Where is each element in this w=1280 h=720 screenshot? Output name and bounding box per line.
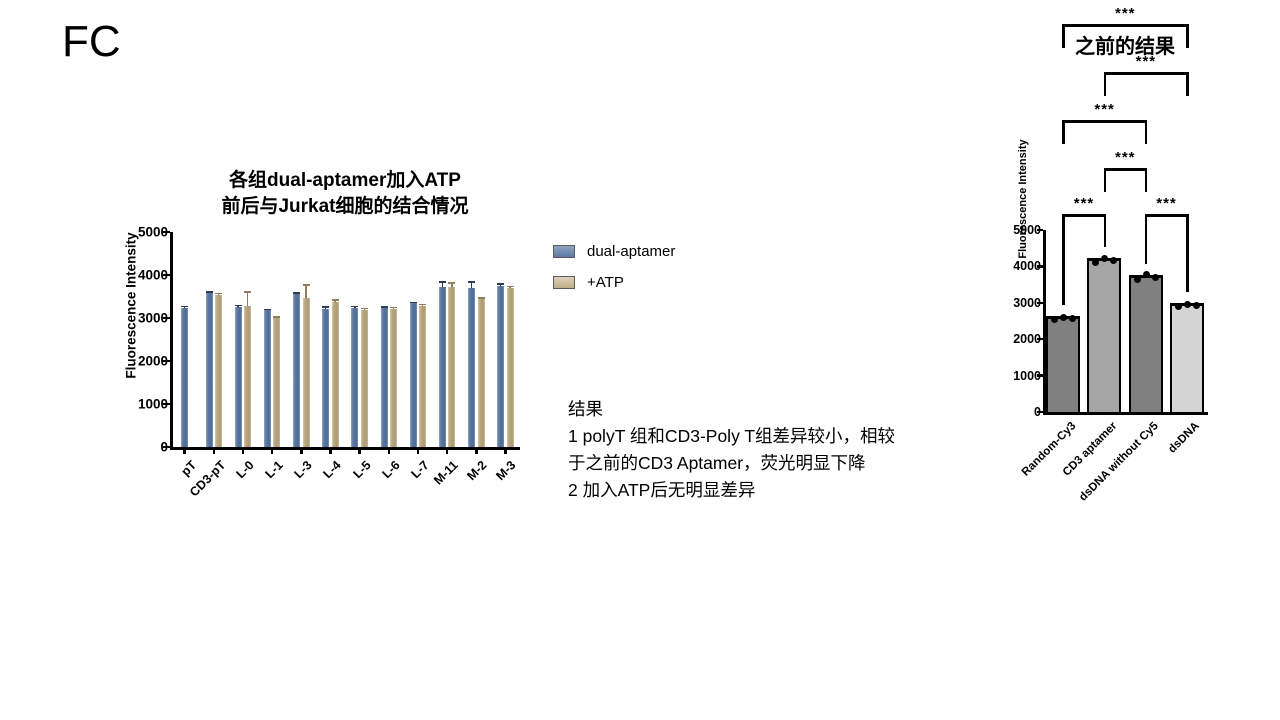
left-chart-bar [381, 308, 388, 447]
left-chart-bar [244, 306, 251, 447]
left-bar-chart: 各组dual-aptamer加入ATP 前后与Jurkat细胞的结合情况 Flu… [75, 160, 545, 520]
left-chart-bar [361, 310, 368, 447]
left-chart-bar [478, 299, 485, 447]
right-chart-bar [1046, 316, 1080, 412]
significance-bracket-leg [1104, 214, 1107, 247]
significance-bracket [1146, 214, 1187, 217]
left-chart-bar [264, 310, 271, 447]
significance-bracket-leg [1062, 24, 1065, 48]
right-chart-data-point [1175, 303, 1182, 310]
left-chart-bar [390, 309, 397, 447]
left-chart-error-cap [439, 281, 446, 283]
significance-label: *** [1094, 101, 1115, 118]
left-chart-x-tick [475, 447, 478, 454]
left-chart-x-axis [170, 447, 520, 450]
right-chart-y-axis [1043, 230, 1046, 412]
legend-label-atp: +ATP [587, 274, 624, 291]
notes-line-3: 于之前的CD3 Aptamer，荧光明显下降 [568, 450, 998, 477]
right-chart-bar [1170, 303, 1204, 412]
left-chart-legend: dual-aptamer +ATP [553, 243, 675, 305]
significance-bracket-leg [1062, 120, 1065, 144]
right-chart-plot-area: 010002000300040005000Random-Cy3CD3 aptam… [1043, 230, 1208, 412]
significance-label: *** [1115, 5, 1136, 22]
left-chart-error-cap [303, 284, 310, 286]
left-chart-error-cap [419, 304, 426, 306]
significance-bracket [1064, 214, 1105, 217]
left-chart-x-tick [271, 447, 274, 454]
notes-line-4: 2 加入ATP后无明显差异 [568, 477, 998, 504]
legend-item-atp: +ATP [553, 274, 675, 291]
significance-bracket-leg [1186, 72, 1189, 96]
right-chart-data-point [1143, 271, 1150, 278]
left-chart-bar [215, 295, 222, 447]
left-chart-title-line-1: 各组dual-aptamer加入ATP [170, 168, 520, 194]
left-chart-error-cap [215, 293, 222, 295]
right-chart-x-tick-label: dsDNA without Cy5 [1077, 420, 1161, 504]
right-chart-y-tick-label: 4000 [1013, 259, 1041, 273]
left-chart-error-cap [235, 305, 242, 307]
significance-bracket [1064, 120, 1147, 123]
right-chart-x-axis [1043, 412, 1208, 415]
left-chart-error-cap [497, 283, 504, 285]
right-chart-x-tick-label: dsDNA [1167, 420, 1203, 456]
right-chart-data-point [1134, 276, 1141, 283]
right-chart-data-point [1184, 301, 1191, 308]
left-chart-x-tick-label: M-3 [494, 458, 519, 483]
right-chart-y-tick-label: 3000 [1013, 296, 1041, 310]
left-chart-x-tick [213, 447, 216, 454]
right-chart-data-point [1092, 259, 1099, 266]
significance-label: *** [1156, 195, 1177, 212]
left-chart-x-tick-label: pT [178, 458, 199, 479]
left-chart-bar [332, 302, 339, 447]
right-chart-data-point [1152, 274, 1159, 281]
left-chart-x-tick [358, 447, 361, 454]
right-chart-y-tick-label: 0 [1034, 405, 1041, 419]
significance-bracket-leg [1145, 120, 1148, 144]
significance-bracket-leg [1186, 24, 1189, 48]
left-chart-error-cap [322, 306, 329, 308]
left-chart-bar [410, 303, 417, 447]
left-chart-bar [419, 306, 426, 447]
left-chart-bar [303, 298, 310, 447]
left-chart-y-axis-label: Fluorescence Intensity [124, 206, 139, 406]
left-chart-x-tick-label: L-1 [263, 458, 286, 481]
left-chart-bar [293, 294, 300, 447]
left-chart-bar [448, 287, 455, 447]
significance-label: *** [1136, 53, 1157, 70]
significance-bracket [1105, 72, 1188, 75]
right-chart-y-tick-label: 1000 [1013, 369, 1041, 383]
left-chart-error-cap [390, 307, 397, 309]
left-chart-y-tick-label: 3000 [138, 311, 168, 326]
left-chart-x-tick [388, 447, 391, 454]
left-chart-error-cap [293, 292, 300, 294]
left-chart-error-cap [410, 302, 417, 304]
left-chart-x-tick-label: L-3 [292, 458, 315, 481]
left-chart-plot-area: 010002000300040005000pTCD3-pTL-0L-1L-3L-… [170, 232, 520, 447]
left-chart-x-tick-label: L-4 [321, 458, 344, 481]
significance-bracket-leg [1104, 168, 1107, 192]
significance-bracket-leg [1145, 168, 1148, 192]
significance-bracket-leg [1186, 214, 1189, 292]
right-bar-chart: 之前的结果 Fluorescence Intensity 01000200030… [985, 18, 1265, 518]
significance-label: *** [1115, 149, 1136, 166]
right-chart-title: 之前的结果 [985, 30, 1265, 59]
left-chart-title-line-2: 前后与Jurkat细胞的结合情况 [170, 194, 520, 220]
notes-line-2: 1 polyT 组和CD3-Poly T组差异较小，相较 [568, 423, 998, 450]
right-chart-data-point [1101, 255, 1108, 262]
left-chart-x-tick [329, 447, 332, 454]
left-chart-error-cap [332, 299, 339, 301]
left-chart-error-bar [305, 284, 307, 298]
left-chart-bar [507, 288, 514, 447]
left-chart-title: 各组dual-aptamer加入ATP 前后与Jurkat细胞的结合情况 [170, 168, 520, 220]
significance-bracket [1105, 168, 1146, 171]
significance-bracket-leg [1062, 214, 1065, 305]
left-chart-x-tick [300, 447, 303, 454]
left-chart-error-cap [264, 309, 271, 311]
legend-swatch-icon-dual-aptamer [553, 245, 575, 258]
left-chart-bar [273, 318, 280, 447]
right-chart-y-tick-label: 5000 [1013, 223, 1041, 237]
left-chart-x-tick [417, 447, 420, 454]
left-chart-y-tick-label: 2000 [138, 354, 168, 369]
left-chart-bar [468, 288, 475, 447]
left-chart-error-cap [273, 316, 280, 318]
left-chart-error-cap [448, 282, 455, 284]
left-chart-error-cap [351, 306, 358, 308]
left-chart-bar [322, 309, 329, 447]
left-chart-bar [497, 286, 504, 447]
results-notes: 结果 1 polyT 组和CD3-Poly T组差异较小，相较 于之前的CD3 … [568, 396, 998, 505]
significance-bracket-leg [1104, 72, 1107, 96]
left-chart-error-cap [381, 306, 388, 308]
left-chart-y-tick-label: 1000 [138, 397, 168, 412]
left-chart-bar [351, 308, 358, 447]
right-chart-bar [1087, 258, 1121, 412]
left-chart-error-bar [247, 291, 249, 305]
left-chart-error-cap [478, 297, 485, 299]
left-chart-x-tick-label: M-2 [465, 458, 490, 483]
legend-item-dual-aptamer: dual-aptamer [553, 243, 675, 260]
significance-bracket-leg [1145, 214, 1148, 264]
left-chart-y-tick-label: 0 [160, 440, 168, 455]
left-chart-bar [206, 293, 213, 447]
left-chart-error-cap [468, 281, 475, 283]
legend-swatch-icon-atp [553, 276, 575, 289]
significance-bracket [1064, 24, 1188, 27]
right-chart-bar [1129, 275, 1163, 412]
slide-canvas: FC 各组dual-aptamer加入ATP 前后与Jurkat细胞的结合情况 … [0, 0, 1280, 720]
left-chart-x-tick-label: M-11 [431, 458, 461, 488]
page-title: FC [62, 18, 121, 66]
left-chart-x-tick [242, 447, 245, 454]
notes-line-1: 结果 [568, 396, 998, 423]
legend-label-dual-aptamer: dual-aptamer [587, 243, 675, 260]
left-chart-x-tick-label: L-6 [379, 458, 402, 481]
left-chart-y-axis [170, 232, 173, 447]
left-chart-y-tick-label: 5000 [138, 225, 168, 240]
left-chart-x-tick [446, 447, 449, 454]
left-chart-error-cap [361, 308, 368, 310]
left-chart-x-tick-label: L-0 [233, 458, 256, 481]
right-chart-y-tick-label: 2000 [1013, 332, 1041, 346]
left-chart-x-tick-label: L-5 [350, 458, 373, 481]
left-chart-error-cap [507, 286, 514, 288]
left-chart-error-cap [244, 291, 251, 293]
left-chart-error-cap [181, 306, 188, 308]
left-chart-y-tick-label: 4000 [138, 268, 168, 283]
right-chart-data-point [1060, 314, 1067, 321]
left-chart-bar [181, 308, 188, 447]
left-chart-x-tick-label: L-7 [408, 458, 431, 481]
left-chart-bar [235, 307, 242, 447]
left-chart-x-tick [183, 447, 186, 454]
left-chart-x-tick [504, 447, 507, 454]
significance-label: *** [1074, 195, 1095, 212]
left-chart-error-cap [206, 291, 213, 293]
left-chart-bar [439, 287, 446, 447]
